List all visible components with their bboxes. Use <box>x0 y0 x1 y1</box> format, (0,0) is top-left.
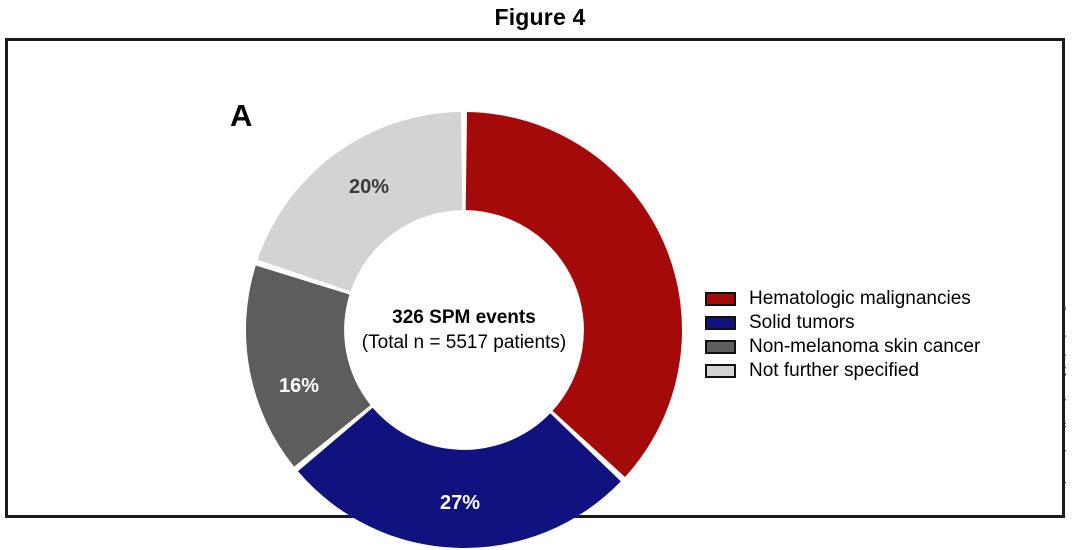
legend-label: Solid tumors <box>749 312 855 334</box>
legend-item: Hematologic malignancies <box>705 287 980 311</box>
slice-label-nonmelanoma: 16% <box>279 375 319 397</box>
slice-label-hematologic: 37% <box>506 279 546 301</box>
legend-swatch <box>705 340 736 354</box>
chart-legend: Hematologic malignanciesSolid tumorsNon-… <box>705 287 980 383</box>
donut-slice <box>258 112 463 291</box>
page-title: Figure 4 <box>0 2 1080 32</box>
figure-frame: A 326 SPM events (Total n = 5517 patient… <box>5 38 1065 518</box>
donut-slice <box>466 112 682 477</box>
legend-item: Solid tumors <box>705 311 980 335</box>
legend-label: Not further specified <box>749 360 919 382</box>
legend-label: Non-melanoma skin cancer <box>749 336 980 358</box>
donut-chart: 326 SPM events (Total n = 5517 patients)… <box>244 110 684 550</box>
legend-item: Non-melanoma skin cancer <box>705 335 980 359</box>
legend-item: Not further specified <box>705 359 980 383</box>
slice-label-not-specified: 20% <box>349 176 389 198</box>
donut-svg <box>244 110 684 550</box>
legend-swatch <box>705 364 736 378</box>
legend-swatch <box>705 316 736 330</box>
watermark: Downloaded from http://aacrjournals <box>1064 306 1080 516</box>
legend-swatch <box>705 292 736 306</box>
legend-label: Hematologic malignancies <box>749 288 971 310</box>
donut-slices <box>246 112 682 548</box>
watermark-text: Downloaded from http://aacrjournals <box>1064 306 1067 490</box>
slice-label-solid-tumors: 27% <box>440 492 480 514</box>
